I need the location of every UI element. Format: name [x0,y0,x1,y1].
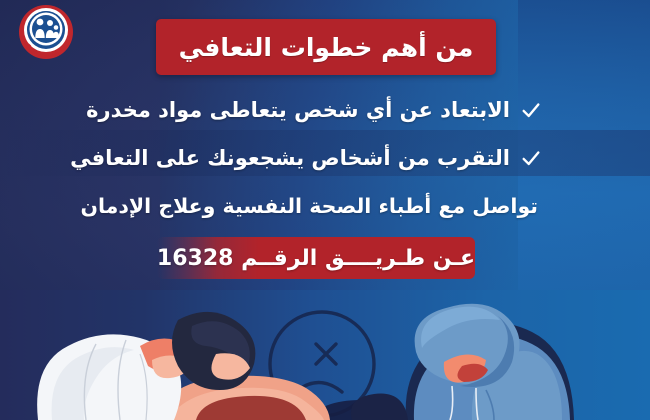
ministry-logo: وزارة الصحة والسكان [14,2,78,66]
list-item: الابتعاد عن أي شخص يتعاطى مواد مخدرة [60,86,542,134]
hotline-label: عـن طـريــــق الرقــم 16328 [157,246,475,271]
hotline-banner: عـن طـريــــق الرقــم 16328 [157,237,475,279]
list-item-label: الابتعاد عن أي شخص يتعاطى مواد مخدرة [86,98,510,122]
advice-list: الابتعاد عن أي شخص يتعاطى مواد مخدرة الت… [60,86,542,230]
list-item: التقرب من أشخاص يشجعونك على التعافي [60,134,542,182]
ministry-of-health-logo-icon: وزارة الصحة والسكان [14,2,78,66]
page-title: من أهم خطوات التعافي [179,33,474,62]
poster-root: وزارة الصحة والسكان من أهم خطوات التعافي… [0,0,650,420]
check-icon [520,147,542,169]
list-item-label: تواصل مع أطباء الصحة النفسية وعلاج الإدم… [80,194,538,218]
title-banner: من أهم خطوات التعافي [156,19,496,75]
check-icon [520,99,542,121]
list-item-label: التقرب من أشخاص يشجعونك على التعافي [70,146,510,170]
illustration [0,290,650,420]
list-item: تواصل مع أطباء الصحة النفسية وعلاج الإدم… [60,182,542,230]
